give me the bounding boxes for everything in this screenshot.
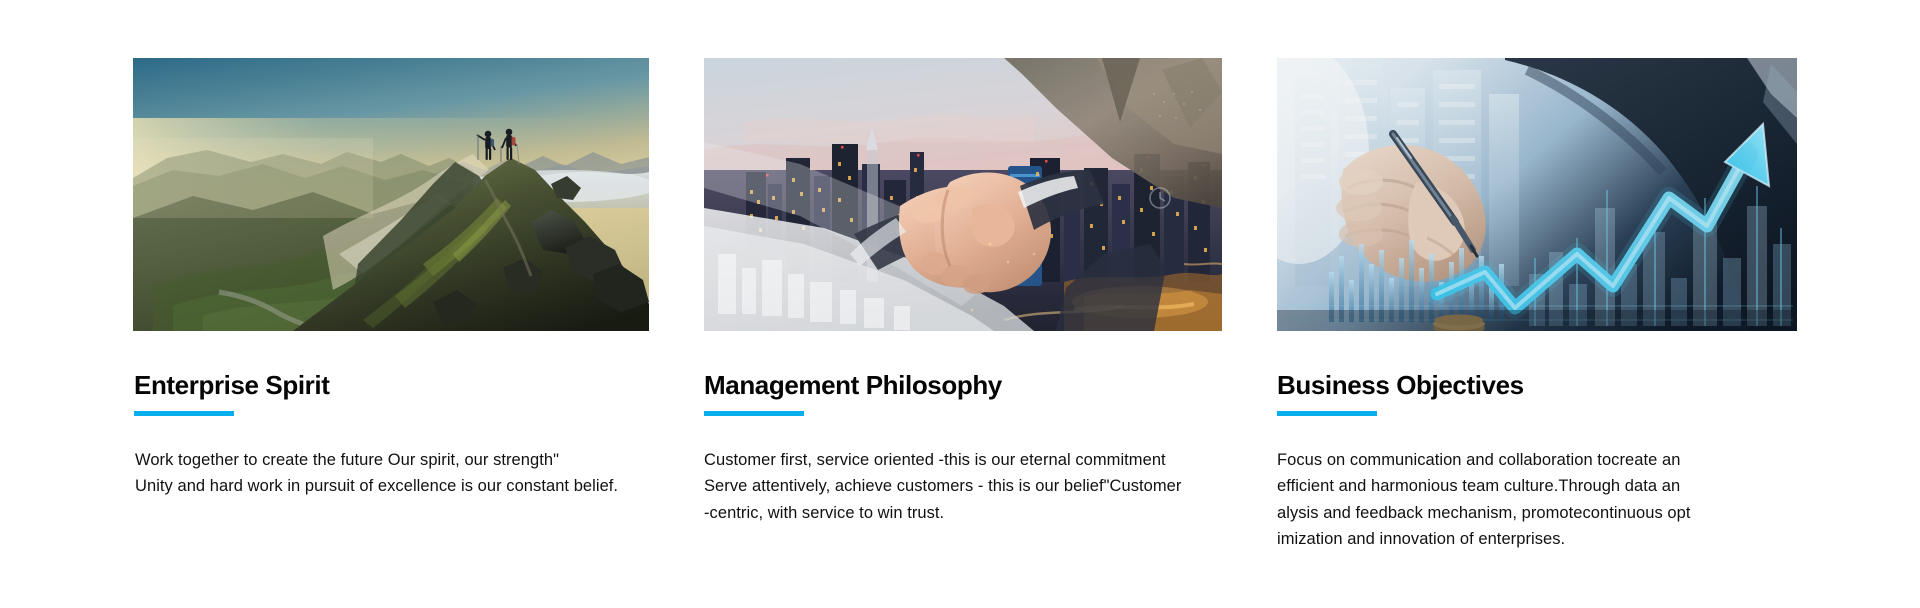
card-text-management-philosophy: Customer first, service oriented -this i… (704, 447, 1222, 527)
card-text-line: Serve attentively, achieve customers - t… (704, 473, 1222, 500)
card-text-line: Focus on communication and collaboration… (1277, 447, 1797, 474)
card-image-management-philosophy (704, 58, 1222, 331)
card-business-objectives[interactable]: Business Objectives Focus on communicati… (1277, 58, 1797, 553)
card-enterprise-spirit[interactable]: Enterprise Spirit Work together to creat… (133, 58, 649, 553)
title-underline-accent (1277, 411, 1377, 416)
card-image-enterprise-spirit (133, 58, 649, 331)
title-underline-accent (134, 411, 234, 416)
card-text-line: efficient and harmonious team culture.Th… (1277, 473, 1797, 500)
card-text-line: -centric, with service to win trust. (704, 500, 1222, 527)
card-text-enterprise-spirit: Work together to create the future Our s… (135, 447, 649, 500)
card-row: Enterprise Spirit Work together to creat… (133, 58, 1792, 553)
card-text-line: Unity and hard work in pursuit of excell… (135, 473, 649, 500)
title-underline-accent (704, 411, 804, 416)
card-body-enterprise-spirit: Enterprise Spirit Work together to creat… (133, 371, 649, 500)
card-body-management-philosophy: Management Philosophy Customer first, se… (704, 371, 1222, 526)
card-text-line: alysis and feedback mechanism, promoteco… (1277, 500, 1797, 527)
card-body-business-objectives: Business Objectives Focus on communicati… (1277, 371, 1797, 553)
card-text-business-objectives: Focus on communication and collaboration… (1277, 447, 1797, 553)
card-title-business-objectives: Business Objectives (1277, 371, 1797, 400)
card-text-line: imization and innovation of enterprises. (1277, 526, 1797, 553)
card-image-business-objectives (1277, 58, 1797, 331)
card-title-management-philosophy: Management Philosophy (704, 371, 1222, 400)
card-text-line: Customer first, service oriented -this i… (704, 447, 1222, 474)
card-title-enterprise-spirit: Enterprise Spirit (134, 371, 649, 400)
culture-cards-page: Enterprise Spirit Work together to creat… (0, 0, 1920, 608)
card-text-line: Work together to create the future Our s… (135, 447, 649, 474)
card-management-philosophy[interactable]: Management Philosophy Customer first, se… (704, 58, 1222, 553)
